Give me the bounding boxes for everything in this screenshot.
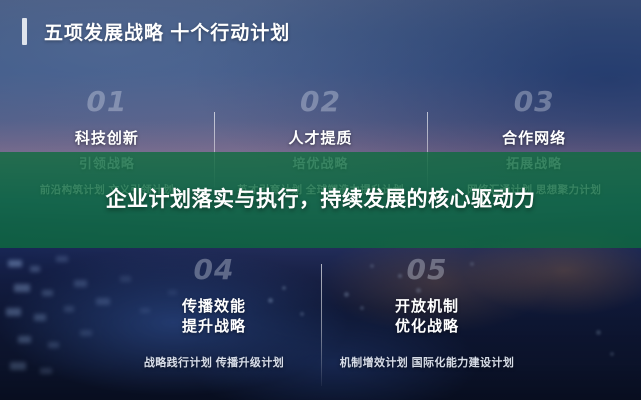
strategy-number: 02 (214, 88, 428, 116)
strategy-card-04[interactable]: 04 传播效能 提升战略 战略践行计划 传播升级计划 (108, 252, 321, 392)
strategy-title-line2: 提升战略 (108, 317, 321, 337)
caption-overlay-band: 企业计划落实与执行，持续发展的核心驱动力 (0, 152, 641, 248)
header-accent-bar (22, 18, 27, 45)
page-title: 五项发展战略 十个行动计划 (44, 18, 290, 45)
strategy-title: 人才提质 (214, 129, 428, 149)
strategy-number: 01 (0, 88, 214, 116)
strategy-title-line1: 开放机制 (395, 298, 459, 315)
poster-canvas: 五项发展战略 十个行动计划 01 科技创新 引领战略 前沿构筑计划 文义引领计划… (0, 0, 641, 400)
strategy-title-line1: 传播效能 (182, 298, 246, 315)
caption-text: 企业计划落实与执行，持续发展的核心驱动力 (41, 185, 601, 215)
strategy-title-line2: 优化战略 (321, 317, 534, 337)
strategy-title: 传播效能 提升战略 (108, 297, 321, 338)
strategy-card-05[interactable]: 05 开放机制 优化战略 机制增效计划 国际化能力建设计划 (321, 252, 534, 392)
strategy-title: 合作网络 (427, 129, 641, 149)
strategy-title: 开放机制 优化战略 (321, 297, 534, 338)
strategy-number: 05 (321, 256, 534, 284)
strategy-number: 04 (108, 256, 321, 284)
strategy-plans: 战略践行计划 传播升级计划 (108, 354, 321, 370)
strategy-number: 03 (427, 88, 641, 116)
strategy-plans: 机制增效计划 国际化能力建设计划 (321, 354, 534, 370)
column-divider (321, 264, 322, 386)
strategy-row-bottom: 04 传播效能 提升战略 战略践行计划 传播升级计划 05 开放机制 优化战略 … (0, 252, 641, 392)
strategy-title: 科技创新 (0, 129, 214, 149)
poster-header: 五项发展战略 十个行动计划 (0, 0, 641, 62)
